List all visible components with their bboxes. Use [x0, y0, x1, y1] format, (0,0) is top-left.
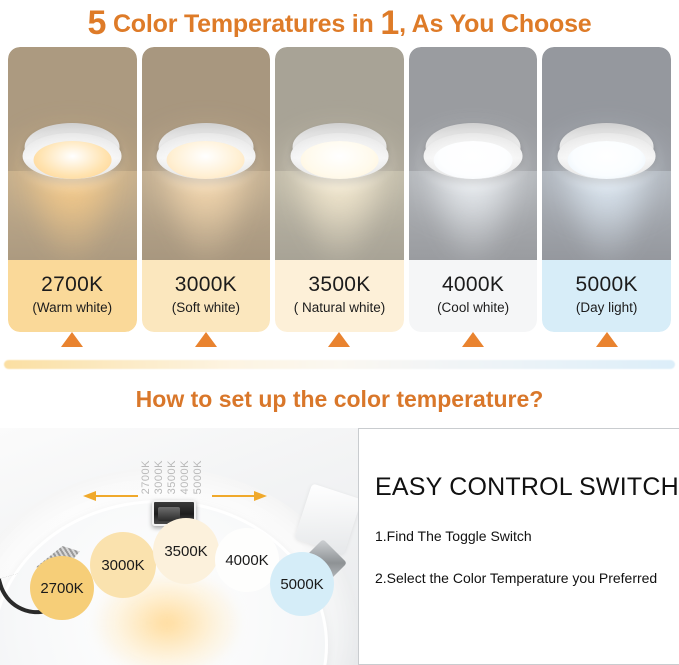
ceiling-light-fixture: [21, 117, 124, 191]
temperature-badge: 5000K: [270, 552, 334, 616]
title-mid-text: Color Temperatures in: [106, 10, 380, 38]
switch-scale-label: 3500K: [166, 460, 178, 494]
instruction-step-2: 2.Select the Color Temperature you Prefe…: [375, 570, 669, 586]
card-label-band: 5000K(Day light): [542, 260, 671, 332]
triangle-pointer-icon: [462, 332, 484, 347]
card-label-band: 2700K(Warm white): [8, 260, 137, 332]
switch-scale-label: 2700K: [140, 460, 152, 494]
switch-scale-label: 5000K: [192, 460, 204, 494]
instruction-step-1: 1.Find The Toggle Switch: [375, 528, 669, 544]
fixture-photo: 2700K3000K3500K4000K5000K 2700K3000K3500…: [0, 428, 358, 665]
title-second-number: 1: [380, 4, 399, 42]
pointer-cell: [542, 332, 671, 352]
card-kelvin-name: (Soft white): [172, 300, 240, 315]
color-temperature-card: 4000K(Cool white): [409, 47, 538, 332]
arrow-right-icon: [212, 490, 268, 502]
card-photo: [409, 47, 538, 260]
temperature-gradient-bar: [4, 360, 675, 369]
fixture-lens: [167, 141, 245, 179]
color-temperature-card: 3500K( Natural white): [275, 47, 404, 332]
card-label-band: 4000K(Cool white): [409, 260, 538, 332]
section-heading: How to set up the color temperature?: [0, 386, 679, 413]
triangle-pointer-icon: [596, 332, 618, 347]
ceiling-light-fixture: [555, 117, 658, 191]
card-photo: [8, 47, 137, 260]
title-lead-number: 5: [87, 4, 106, 42]
page-title: 5 Color Temperatures in 1, As You Choose: [0, 0, 679, 43]
title-tail-text: , As You Choose: [399, 10, 591, 38]
ceiling-light-fixture: [288, 117, 391, 191]
temperature-badge: 2700K: [30, 556, 94, 620]
switch-scale-label: 4000K: [179, 460, 191, 494]
card-kelvin-value: 4000K: [442, 273, 504, 297]
card-photo: [275, 47, 404, 260]
temperature-badge: 3500K: [153, 518, 219, 584]
arrow-left-icon: [82, 490, 138, 502]
pointer-cell: [8, 332, 137, 352]
setup-section: 2700K3000K3500K4000K5000K 2700K3000K3500…: [0, 428, 679, 665]
card-label-band: 3500K( Natural white): [275, 260, 404, 332]
card-kelvin-name: ( Natural white): [294, 300, 386, 315]
switch-scale-label: 3000K: [153, 460, 165, 494]
triangle-pointer-icon: [61, 332, 83, 347]
card-kelvin-value: 3500K: [308, 273, 370, 297]
color-temperature-card: 2700K(Warm white): [8, 47, 137, 332]
ceiling-light-fixture: [422, 117, 525, 191]
card-photo: [142, 47, 271, 260]
card-kelvin-value: 2700K: [41, 273, 103, 297]
triangle-pointer-icon: [195, 332, 217, 347]
fixture-lens: [300, 141, 378, 179]
fixture-lens: [568, 141, 646, 179]
ceiling-light-fixture: [154, 117, 257, 191]
switch-scale-labels: 2700K3000K3500K4000K5000K: [140, 460, 204, 494]
instruction-panel: EASY CONTROL SWITCH 1.Find The Toggle Sw…: [358, 428, 679, 665]
temperature-badge: 3000K: [90, 532, 156, 598]
card-kelvin-name: (Cool white): [437, 300, 509, 315]
pointer-cell: [409, 332, 538, 352]
fixture-lens: [434, 141, 512, 179]
card-kelvin-value: 5000K: [576, 273, 638, 297]
panel-heading: EASY CONTROL SWITCH: [375, 473, 669, 502]
card-label-band: 3000K(Soft white): [142, 260, 271, 332]
pointer-row: [8, 332, 671, 352]
card-kelvin-value: 3000K: [175, 273, 237, 297]
color-temperature-card: 3000K(Soft white): [142, 47, 271, 332]
card-kelvin-name: (Warm white): [32, 300, 112, 315]
triangle-pointer-icon: [328, 332, 350, 347]
pointer-cell: [275, 332, 404, 352]
card-photo: [542, 47, 671, 260]
color-temperature-card-row: 2700K(Warm white)3000K(Soft white)3500K(…: [8, 47, 671, 332]
card-kelvin-name: (Day light): [576, 300, 638, 315]
pointer-cell: [142, 332, 271, 352]
fixture-lens: [33, 141, 111, 179]
color-temperature-card: 5000K(Day light): [542, 47, 671, 332]
